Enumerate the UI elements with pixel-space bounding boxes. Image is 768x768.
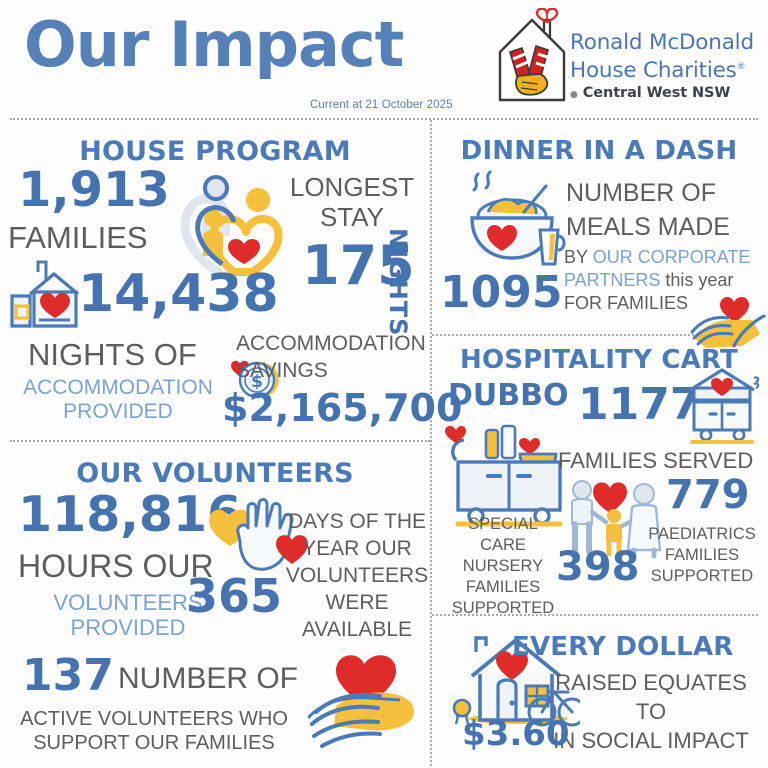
divider-header [10, 118, 758, 120]
page-title: Our Impact [24, 14, 403, 76]
dinner-dash-heading: DINNER IN A DASH [430, 136, 768, 166]
every-dollar-heading: EVERY DOLLAR [512, 632, 733, 662]
rmhc-logo-text: Ronald McDonald House Charities® ● Centr… [570, 30, 754, 101]
volunteers-number-of-label: NUMBER OF [118, 662, 298, 696]
every-dollar-impact-label: IN SOCIAL IMPACT [538, 726, 764, 755]
logo-bullet: ● [570, 90, 578, 100]
dinner-dash-label-line2: MEALS MADE [566, 210, 730, 244]
our-volunteers-heading: OUR VOLUNTEERS [0, 458, 430, 489]
hospitality-paediatrics-label: PAEDIATRICS FAMILIES SUPPORTED [640, 524, 764, 587]
dinner-dash-meals-value: 1095 [440, 272, 562, 314]
hospitality-special-care-value: 398 [556, 548, 640, 586]
house-families-label: FAMILIES [8, 220, 148, 256]
divider-vertical-center [430, 120, 432, 766]
hospitality-cart-icon [444, 412, 570, 528]
house-savings-value: $2,165,700 [222, 390, 462, 426]
dinner-dash-sub-by: BY [564, 247, 593, 267]
every-dollar-labels: RAISED EQUATES TO IN SOCIAL IMPACT [538, 668, 764, 755]
house-accommodation-provided-label: ACCOMMODATION PROVIDED [18, 376, 218, 424]
dinner-dash-label-main: NUMBER OF MEALS MADE [566, 176, 730, 244]
hospitality-families-served-label: FAMILIES SERVED [558, 448, 753, 474]
house-nights-value: 14,438 [78, 270, 279, 319]
logo-line-1: Ronald McDonald [570, 30, 754, 55]
every-dollar-raised-label: RAISED EQUATES TO [538, 668, 764, 726]
volunteers-active-label: ACTIVE VOLUNTEERS WHO SUPPORT OUR FAMILI… [8, 707, 300, 755]
house-accommodation-savings-label: ACCOMMODATION SAVINGS [236, 330, 426, 384]
infographic-canvas: Our Impact Current at 21 October 2025 [0, 0, 768, 768]
registered-mark: ® [737, 62, 746, 72]
volunteers-active-value: 137 [22, 655, 114, 697]
divider-left-middle [10, 440, 430, 442]
hospitality-special-care-label: SPECIAL CARE NURSERY FAMILIES SUPPORTED [444, 514, 562, 619]
house-longest-stay-label: LONGEST STAY [282, 172, 422, 232]
dinner-dash-label-line1: NUMBER OF [566, 176, 730, 210]
house-heart-icon [8, 258, 88, 336]
logo-line-3: ● Central West NSW [570, 85, 754, 101]
hospitality-cart-location: DUBBO [448, 378, 569, 413]
soup-bowl-heart-icon [454, 168, 574, 278]
rmhc-logo: Ronald McDonald House Charities® ● Centr… [494, 8, 766, 108]
volunteers-days-value: 365 [186, 575, 282, 619]
logo-line-2: House Charities® [570, 55, 754, 83]
rmhc-house-hands-heart-icon [494, 8, 574, 108]
house-nights-vertical-label: NIGHTS [384, 228, 412, 336]
house-nights-of-label: NIGHTS OF [28, 337, 197, 373]
volunteers-days-label: DAYS OF THE YEAR OUR VOLUNTEERS WERE AVA… [284, 508, 430, 643]
every-dollar-amount: $3.60 [462, 718, 570, 750]
hospitality-paediatrics-value: 779 [666, 476, 750, 514]
current-at-label: Current at 21 October 2025 [310, 99, 453, 111]
hospital-cart-heart-icon [684, 366, 764, 444]
helping-hands-heart-icon [308, 640, 426, 752]
house-families-value: 1,913 [18, 168, 170, 214]
header: Our Impact Current at 21 October 2025 [0, 0, 768, 118]
hospitality-families-served-value: 1177 [578, 384, 700, 426]
volunteers-hours-label: HOURS OUR [18, 548, 214, 585]
